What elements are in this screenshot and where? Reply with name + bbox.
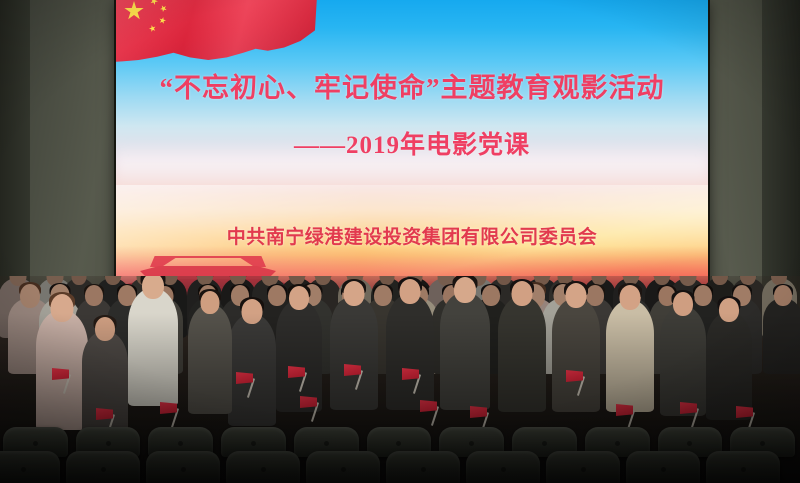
seat-button bbox=[341, 467, 346, 472]
handheld-chinese-flag bbox=[616, 404, 633, 416]
crowd-person bbox=[498, 296, 546, 412]
seat-button bbox=[33, 441, 38, 446]
person-head bbox=[566, 283, 587, 308]
person-head bbox=[374, 285, 392, 306]
theater-seat bbox=[146, 451, 220, 483]
theater-seat bbox=[306, 451, 380, 483]
theater-seat bbox=[706, 451, 780, 483]
seat-button bbox=[661, 467, 666, 472]
seat-button bbox=[501, 467, 506, 472]
seat-button bbox=[615, 441, 620, 446]
person-head bbox=[242, 299, 263, 324]
seat-button bbox=[421, 467, 426, 472]
person-head bbox=[142, 276, 164, 299]
group-photo: “不忘初心、牢记使命”主题教育观影活动 ——2019年电影党课 中共南宁绿港建设… bbox=[0, 0, 800, 483]
person-head bbox=[95, 317, 115, 341]
theater-seat bbox=[546, 451, 620, 483]
crowd-person bbox=[606, 300, 654, 412]
person-head bbox=[719, 298, 739, 322]
handheld-chinese-flag bbox=[420, 400, 437, 412]
seat-button bbox=[687, 441, 692, 446]
crowd-person bbox=[706, 312, 752, 420]
person-head bbox=[496, 276, 511, 285]
handheld-chinese-flag bbox=[344, 364, 361, 376]
crowd-person bbox=[763, 298, 800, 374]
slide-title-subtitle: ——2019年电影党课 bbox=[116, 125, 708, 161]
slide-title-main: “不忘初心、牢记使命”主题教育观影活动 bbox=[116, 66, 708, 105]
person-head bbox=[105, 276, 121, 285]
person-head bbox=[201, 291, 220, 314]
person-head bbox=[774, 285, 792, 306]
person-head bbox=[712, 276, 728, 285]
seat-button bbox=[542, 441, 547, 446]
seat-button bbox=[760, 441, 765, 446]
seat-button bbox=[741, 467, 746, 472]
theater-seat bbox=[226, 451, 300, 483]
crowd-person bbox=[188, 304, 232, 414]
handheld-chinese-flag bbox=[566, 370, 583, 382]
person-head bbox=[400, 279, 421, 304]
seat-button bbox=[261, 467, 266, 472]
seat-button bbox=[106, 441, 111, 446]
handheld-chinese-flag bbox=[52, 368, 69, 380]
theater-seat bbox=[386, 451, 460, 483]
handheld-chinese-flag bbox=[236, 372, 253, 384]
handheld-chinese-flag bbox=[680, 402, 697, 414]
slide-organization-name: 中共南宁绿港建设投资集团有限公司委员会 bbox=[116, 222, 708, 249]
crowd-person bbox=[386, 294, 434, 410]
theater-seat bbox=[626, 451, 700, 483]
seat-button bbox=[469, 441, 474, 446]
person-head bbox=[268, 285, 286, 306]
theater-seats bbox=[0, 417, 800, 483]
person-head bbox=[454, 277, 476, 303]
seat-button bbox=[251, 441, 256, 446]
person-head bbox=[85, 285, 103, 306]
handheld-chinese-flag bbox=[288, 366, 305, 378]
gate-roof-upper bbox=[150, 256, 266, 267]
handheld-chinese-flag bbox=[160, 402, 177, 414]
person-head bbox=[72, 276, 87, 285]
projection-screen: “不忘初心、牢记使命”主题教育观影活动 ——2019年电影党课 中共南宁绿港建设… bbox=[116, 0, 708, 308]
theater-seat bbox=[0, 451, 60, 483]
person-head bbox=[289, 286, 309, 310]
crowd-person bbox=[660, 306, 706, 416]
person-head bbox=[654, 276, 670, 285]
handheld-chinese-flag bbox=[300, 396, 317, 408]
crowd-person bbox=[440, 292, 490, 410]
theater-seat bbox=[66, 451, 140, 483]
person-head bbox=[620, 285, 641, 310]
seat-button bbox=[181, 467, 186, 472]
handheld-chinese-flag bbox=[402, 368, 419, 380]
crowd-person bbox=[330, 296, 378, 410]
person-head bbox=[673, 292, 693, 316]
seat-button bbox=[101, 467, 106, 472]
person-head bbox=[51, 294, 74, 322]
seat-button bbox=[324, 441, 329, 446]
person-head bbox=[20, 284, 40, 308]
seat-button bbox=[178, 441, 183, 446]
person-head bbox=[694, 285, 712, 306]
crowd-person bbox=[128, 288, 178, 406]
seat-button bbox=[21, 467, 26, 472]
crowd-person bbox=[276, 300, 322, 412]
person-head bbox=[512, 281, 533, 306]
seat-button bbox=[581, 467, 586, 472]
person-head bbox=[344, 281, 365, 306]
crowd-person bbox=[228, 314, 276, 426]
person-head bbox=[680, 276, 697, 286]
seat-button bbox=[396, 441, 401, 446]
theater-seat bbox=[466, 451, 540, 483]
person-head bbox=[482, 285, 500, 306]
